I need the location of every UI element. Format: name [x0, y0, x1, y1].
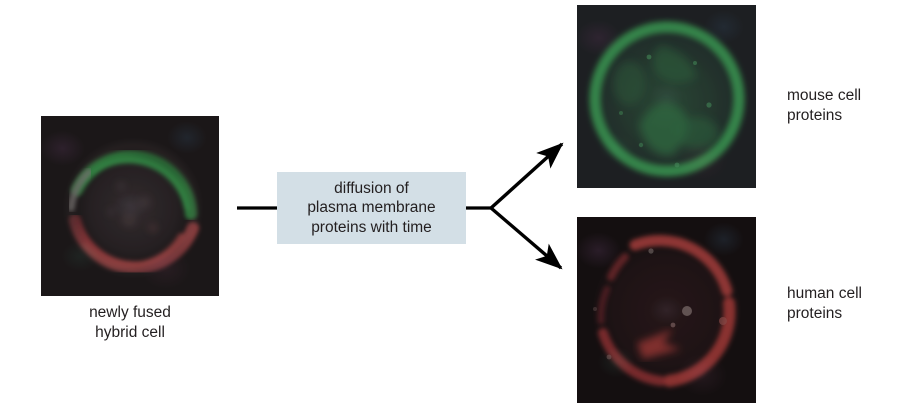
- process-box-diffusion: diffusion of plasma membrane proteins wi…: [277, 172, 466, 244]
- caption-fused-hybrid-cell: newly fused hybrid cell: [41, 303, 219, 343]
- arrow-to-human-proteins: [491, 208, 561, 268]
- micrograph-render-fused: [41, 116, 219, 296]
- arrow-to-mouse-proteins: [491, 144, 562, 208]
- micrograph-render-human: [577, 217, 756, 403]
- cell-fusion-figure: newly fused hybrid cell diffusion of pla…: [0, 0, 923, 414]
- micrograph-human-proteins: [577, 217, 756, 403]
- label-mouse-cell-proteins: mouse cell proteins: [787, 86, 917, 126]
- process-box-label: diffusion of plasma membrane proteins wi…: [307, 179, 435, 238]
- micrograph-fused-hybrid-cell: [41, 116, 219, 296]
- micrograph-mouse-proteins: [577, 5, 756, 188]
- micrograph-render-mouse: [577, 5, 756, 188]
- label-human-cell-proteins: human cell proteins: [787, 284, 917, 324]
